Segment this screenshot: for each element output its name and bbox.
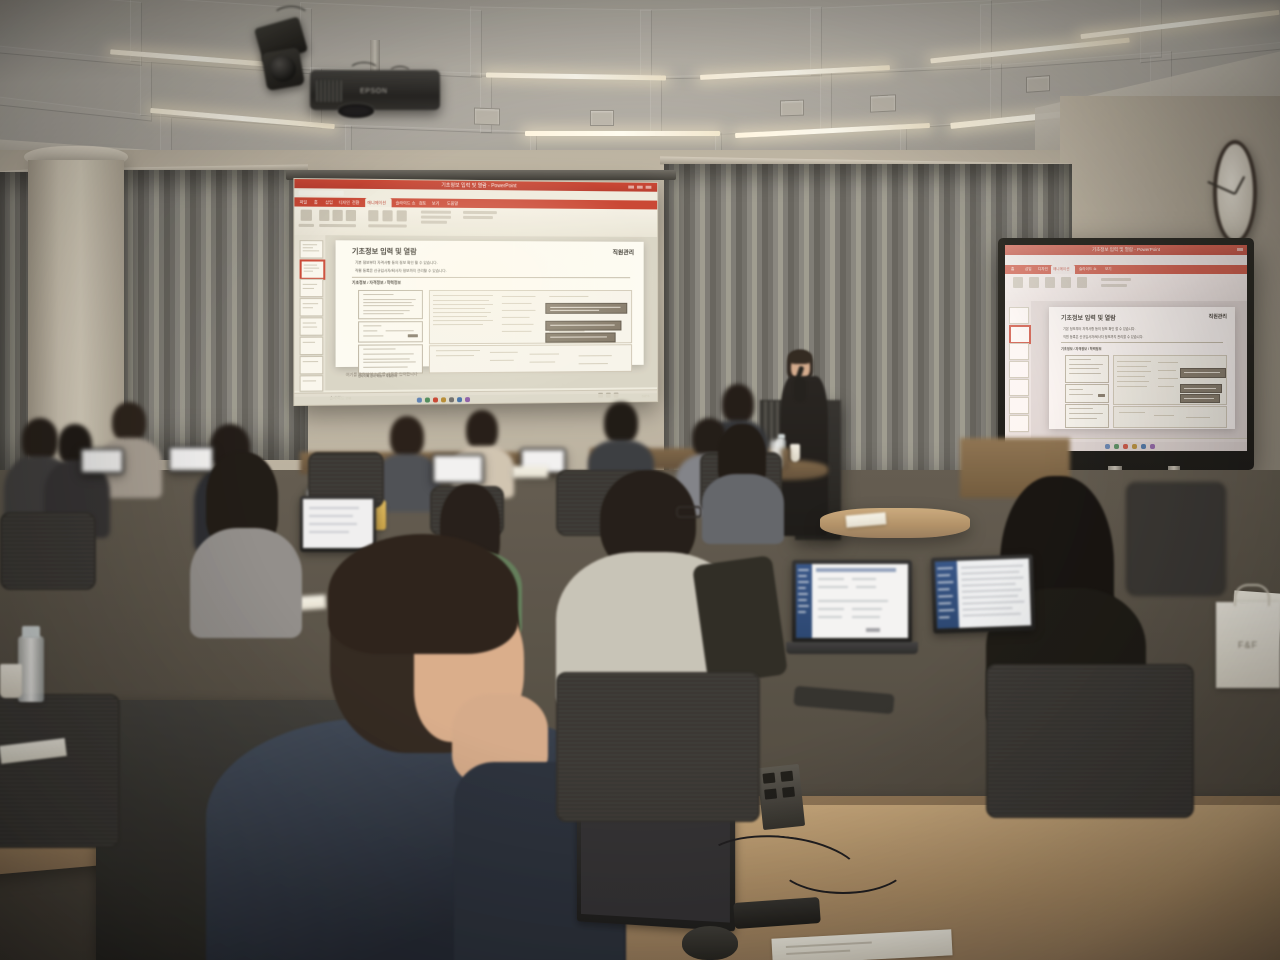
slide-thumbnail[interactable] [1009,397,1029,414]
taskbar-icon[interactable] [465,397,470,402]
projector-brand-label: EPSON [360,88,388,95]
ppt-tab-file[interactable]: 파일 [300,199,308,205]
laptop-screen-form [796,564,908,638]
slide-callout-tv [1180,368,1226,378]
laptop-right-rear[interactable] [931,554,1036,634]
slide-callout [545,332,615,342]
ppt-tab-insert[interactable]: 삽입 [325,200,333,206]
ppt-window-title: 기초정보 입력 및 열람 - PowerPoint [441,182,516,190]
ppt-tab-animations-tv[interactable]: 애니메이션 [1053,267,1070,272]
computer-mouse[interactable] [682,926,738,960]
taskbar-icon[interactable] [1105,444,1110,449]
handout-papers [512,466,548,478]
quick-access-toolbar[interactable] [299,190,344,196]
slide-thumbnail[interactable] [1009,415,1029,432]
power-cable [776,830,910,894]
ceiling-vent [780,100,804,117]
slide-thumbnail[interactable] [300,279,324,297]
taskbar-icon[interactable] [1114,444,1119,449]
window-minimize-button[interactable] [628,186,634,189]
taskbar-icon[interactable] [1141,444,1146,449]
taskbar-icon[interactable] [1132,444,1137,449]
ppt-tab-slideshow[interactable]: 슬라이드 쇼 [396,200,416,206]
taskbar-icon[interactable] [1123,444,1128,449]
slide-panel [358,344,423,374]
taskbar-icon[interactable] [457,397,462,402]
ppt-tab-design[interactable]: 디자인 [339,200,350,206]
attendee-glasses [676,506,702,518]
slide-panel-tv [1065,404,1109,428]
ppt-tab-transitions[interactable]: 전환 [352,200,360,206]
slide-divider-tv [1061,342,1223,343]
projector-lens [338,104,374,118]
slide-thumbnail[interactable] [300,317,324,335]
shopping-bag-handle [1234,584,1270,606]
slide-screenshot-tv [1113,355,1227,405]
taskbar-icon[interactable] [441,397,446,402]
ceiling-cable [272,6,310,30]
presenter-arm [794,378,806,402]
ppt-tab-review[interactable]: 검토 [419,200,426,206]
training-room-photo: EPSON 기초정보 입력 및 열람 - PowerPoint [0,0,1280,960]
window-curtain-left [118,170,308,460]
notes-pane-placeholder[interactable]: 여기를 클릭하여 노트를 내용을 입력합니다 [346,371,418,378]
slide-thumbnail-selected[interactable] [1009,325,1031,344]
taskbar-icon[interactable] [1150,444,1155,449]
clock-hand-hour [1234,176,1245,195]
projector-cable [348,62,380,82]
paper-cup [790,444,800,462]
slide-thumbnail[interactable] [1009,379,1029,396]
water-bottle-cap [22,626,40,638]
presenter-hair-front [788,350,812,364]
slide-thumbnail[interactable] [300,375,324,391]
tv-display: 기초정보 입력 및 열람 - PowerPoint 홈 삽입 디자인 애니메이션… [998,238,1254,470]
attendee-body [190,528,302,638]
office-chair [556,672,760,822]
office-chair [0,512,96,590]
ceiling-tile [480,73,662,135]
laptop-back [168,446,214,472]
ceiling-vent [474,108,500,126]
powerpoint-window-mirrored: 기초정보 입력 및 열람 - PowerPoint 홈 삽입 디자인 애니메이션… [1005,245,1247,451]
projector-cable [388,66,412,82]
window-close-button-tv[interactable] [1237,248,1243,251]
slide-screenshot-tv [1113,406,1227,428]
slide-divider [352,277,630,278]
slide-panel [358,290,423,319]
slide-thumbnail[interactable] [1009,343,1029,360]
slide-section-label: 기초정보 / 자격정보 / 학력정보 [352,281,401,286]
wall-clock [1213,140,1257,244]
laptop-front-right[interactable] [792,560,912,644]
ppt-tab-animations[interactable]: 애니메이션 [367,200,386,206]
slide-panel-tv [1065,355,1109,383]
ppt-tab-help[interactable]: 도움말 [447,201,458,207]
slide-thumbnail-selected[interactable] [300,259,326,279]
recessed-linear-light [525,131,720,136]
slide-thumbnail[interactable] [1009,361,1029,378]
ceiling-vent [1026,75,1050,93]
ppt-tab-insert-tv[interactable]: 삽입 [1025,267,1032,272]
ceiling-vent [870,94,896,112]
office-chair [1126,482,1226,596]
slide-bullet: 직원 등록은 신규입사자/퇴사자 정보까지 관리할 수 있습니다. [355,269,447,274]
attendee-head [604,402,638,444]
slide-corner-tag-tv: 직원관리 [1209,313,1227,320]
laptop-nav-panel [935,561,959,629]
slide-bullet-tv: 직원 등록은 신규입사자/퇴사자 정보까지 관리할 수 있습니다. [1063,334,1143,339]
ppt-tab-slideshow-tv[interactable]: 슬라이드 쇼 [1079,267,1097,272]
attendee-head [390,416,424,458]
taskbar-icon[interactable] [425,397,430,402]
window-close-button[interactable] [646,186,652,189]
ppt-tab-home[interactable]: 홈 [314,200,318,206]
ceiling-vent [590,110,614,126]
ceiling-tile [470,6,652,79]
ppt-tab-home-tv[interactable]: 홈 [1011,267,1014,272]
laptop-mid-left[interactable] [300,496,376,552]
taskbar-icon[interactable] [417,397,422,402]
tv-screen: 기초정보 입력 및 열람 - PowerPoint 홈 삽입 디자인 애니메이션… [1005,245,1247,451]
ceiling-speaker-dome [270,56,296,82]
shopping-bag-logo: F&F [1238,640,1258,650]
laptop-screen-table [935,558,1031,628]
slide-panel-tv [1065,384,1109,403]
slide-callout-tv [1180,394,1220,403]
ppt-tab-design-tv[interactable]: 디자인 [1038,267,1048,272]
slide-callout-tv [1180,384,1222,393]
power-strip [757,764,805,830]
ppt-window-title-tv: 기초정보 입력 및 열람 - PowerPoint [1092,247,1160,253]
water-bottle-cap [778,434,785,439]
current-slide-tv: 기초정보 입력 및 열람 직원관리 기본 정보부터 자격사항 등의 정보 확인 … [1049,307,1235,429]
powerpoint-window-projected: 기초정보 입력 및 열람 - PowerPoint 파일 홈 삽입 디자인 전환… [294,179,657,405]
ceiling-tile [640,6,822,79]
window-maximize-button[interactable] [637,186,643,189]
ceiling-tile [650,72,832,137]
foreground-man-hair [328,534,518,654]
attendee-head [112,402,146,442]
backpack-strap [692,555,788,685]
laptop-front-right-base [786,642,918,654]
slide-callout [545,303,627,314]
laptop-back [432,454,484,484]
slide-screenshot [429,344,632,373]
slide-corner-tag: 직원관리 [613,248,634,257]
slide-screenshot [429,290,632,344]
taskbar-icon[interactable] [449,397,454,402]
paper-cup [0,664,22,698]
slide-bullet-tv: 기본 정보부터 자격사항 등의 정보 확인 할 수 있습니다. [1063,326,1135,331]
slide-bullet: 기본 정보부터 자격사항 등의 정보 확인 할 수 있습니다. [355,261,438,266]
projector-vent [316,80,342,102]
slide-thumbnail[interactable] [1009,307,1029,324]
laptop-back [80,448,124,474]
slide-section-label-tv: 기초정보 / 자격정보 / 학력정보 [1061,346,1102,351]
slide-panel [358,321,423,342]
attendee-body [702,474,784,544]
slide-thumbnail[interactable] [300,240,324,258]
current-slide: 기초정보 입력 및 열람 직원관리 기본 정보부터 자격사항 등의 정보 확인 … [336,240,644,367]
slide-thumbnail[interactable] [300,356,324,374]
projection-screen: 기초정보 입력 및 열람 - PowerPoint 파일 홈 삽입 디자인 전환… [293,178,658,406]
slide-callout [545,321,621,331]
slide-thumbnail[interactable] [300,298,324,316]
slide-title-tv: 기초정보 입력 및 열람 [1061,313,1116,322]
taskbar-icon[interactable] [433,397,438,402]
slide-thumbnail[interactable] [300,337,324,355]
attendee-head [722,384,754,424]
ppt-tab-view-tv[interactable]: 보기 [1105,267,1112,272]
attendee-head [466,410,498,450]
office-chair [986,664,1194,818]
front-table [820,508,970,538]
ppt-tab-view[interactable]: 보기 [432,201,439,207]
slide-title: 기초정보 입력 및 열람 [352,246,417,256]
laptop-nav-panel [796,564,812,638]
office-chair [0,694,120,848]
